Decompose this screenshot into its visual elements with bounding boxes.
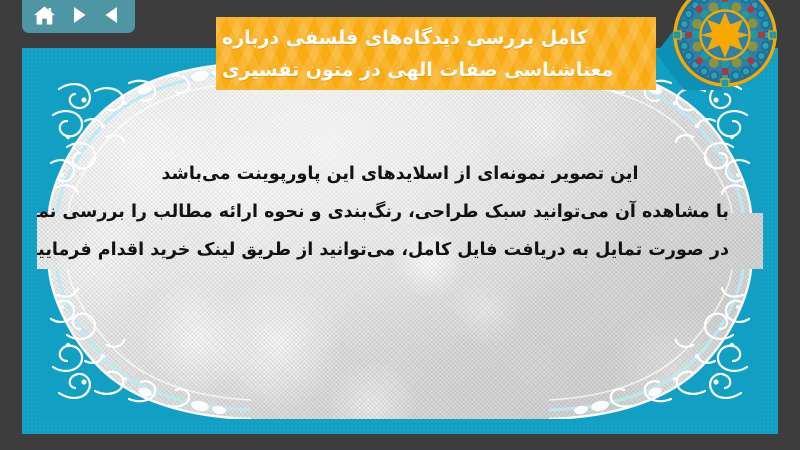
slide-body-text: این تصویر نمونه‌ای از اسلایدهای این پاور… bbox=[37, 155, 763, 269]
arabesque-corner-ornament-bottom-left bbox=[37, 269, 251, 419]
title-banner: کامل بررسی دیدگاه‌های فلسفی درباره معناش… bbox=[216, 17, 722, 90]
forward-button[interactable] bbox=[66, 2, 92, 28]
home-button[interactable] bbox=[32, 2, 58, 28]
triangle-right-icon bbox=[68, 4, 90, 26]
home-icon bbox=[33, 4, 56, 27]
navigation-bar bbox=[22, 0, 135, 33]
slide-body-line-2: با مشاهده آن می‌توانید سبک طراحی، رنگ‌بن… bbox=[71, 193, 729, 231]
page-title-line-2: معناشناسی صفات الهی در متون تفسیری bbox=[222, 54, 613, 86]
banner-text-band: کامل بررسی دیدگاه‌های فلسفی درباره معناش… bbox=[216, 17, 656, 90]
slide-content-surface: این تصویر نمونه‌ای از اسلایدهای این پاور… bbox=[37, 63, 763, 419]
page-title-line-1: کامل بررسی دیدگاه‌های فلسفی درباره bbox=[222, 22, 588, 54]
triangle-left-icon bbox=[101, 4, 123, 26]
slide-body-line-1: این تصویر نمونه‌ای از اسلایدهای این پاور… bbox=[71, 155, 729, 193]
slide-preview-stage: کامل بررسی دیدگاه‌های فلسفی درباره معناش… bbox=[0, 0, 800, 450]
islamic-medallion-ornament bbox=[672, 0, 778, 88]
slide-body-line-3: در صورت تمایل به دریافت فایل کامل، می‌تو… bbox=[71, 231, 729, 269]
back-button[interactable] bbox=[99, 2, 125, 28]
arabesque-corner-ornament-bottom-right bbox=[549, 269, 763, 419]
slide-frame: این تصویر نمونه‌ای از اسلایدهای این پاور… bbox=[22, 48, 778, 434]
